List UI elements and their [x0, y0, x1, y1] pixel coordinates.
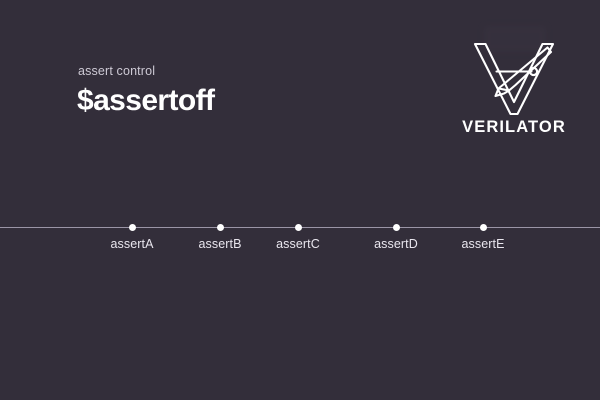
slide-canvas: assert control $assertoff VERILATOR asse… [0, 0, 600, 400]
page-title: $assertoff [77, 84, 407, 118]
timeline-tick-label: assertE [461, 237, 504, 252]
verilator-logo: VERILATOR [462, 40, 566, 138]
timeline-tick-label: assertA [110, 237, 153, 252]
verilator-v-pen-icon [471, 40, 557, 116]
timeline-dot-icon [393, 224, 400, 231]
assertion-timeline: assertAassertBassertCassertDassertE [0, 227, 600, 228]
timeline-tick-label: assertC [276, 237, 320, 252]
logo-wordmark: VERILATOR [462, 118, 566, 136]
timeline-dot-icon [295, 224, 302, 231]
timeline-dot-icon [480, 224, 487, 231]
timeline-tick-label: assertD [374, 237, 418, 252]
eyebrow-label: assert control [78, 64, 407, 79]
timeline-dot-icon [129, 224, 136, 231]
headline-block: assert control $assertoff [77, 64, 407, 118]
timeline-dot-icon [217, 224, 224, 231]
timeline-tick-label: assertB [198, 237, 241, 252]
